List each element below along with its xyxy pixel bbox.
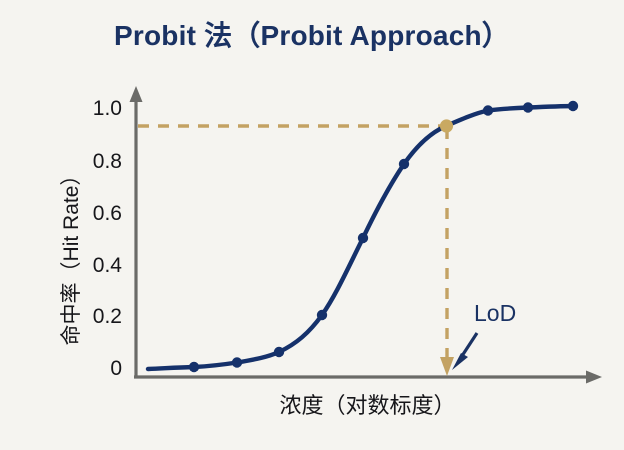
data-point (568, 101, 578, 111)
data-point (358, 233, 368, 243)
lod-point-marker (440, 119, 453, 132)
data-point (399, 159, 409, 169)
data-point (189, 362, 199, 372)
data-point (483, 105, 493, 115)
y-axis-label: 命中率（Hit Rate） (55, 145, 85, 365)
data-point (232, 357, 242, 367)
data-point-markers (189, 101, 578, 372)
data-point (523, 102, 533, 112)
x-axis (134, 371, 602, 384)
y-axis (130, 86, 143, 378)
lod-vline (440, 128, 454, 376)
data-point (317, 310, 327, 320)
data-point (274, 347, 284, 357)
lod-annotation-label: LoD (474, 300, 516, 327)
probit-chart-figure: Probit 法（Probit Approach） (0, 0, 624, 450)
x-axis-label: 浓度（对数标度） (135, 388, 600, 420)
lod-callout-arrow (452, 333, 477, 370)
ytick-label-1-0: 1.0 (78, 97, 122, 121)
